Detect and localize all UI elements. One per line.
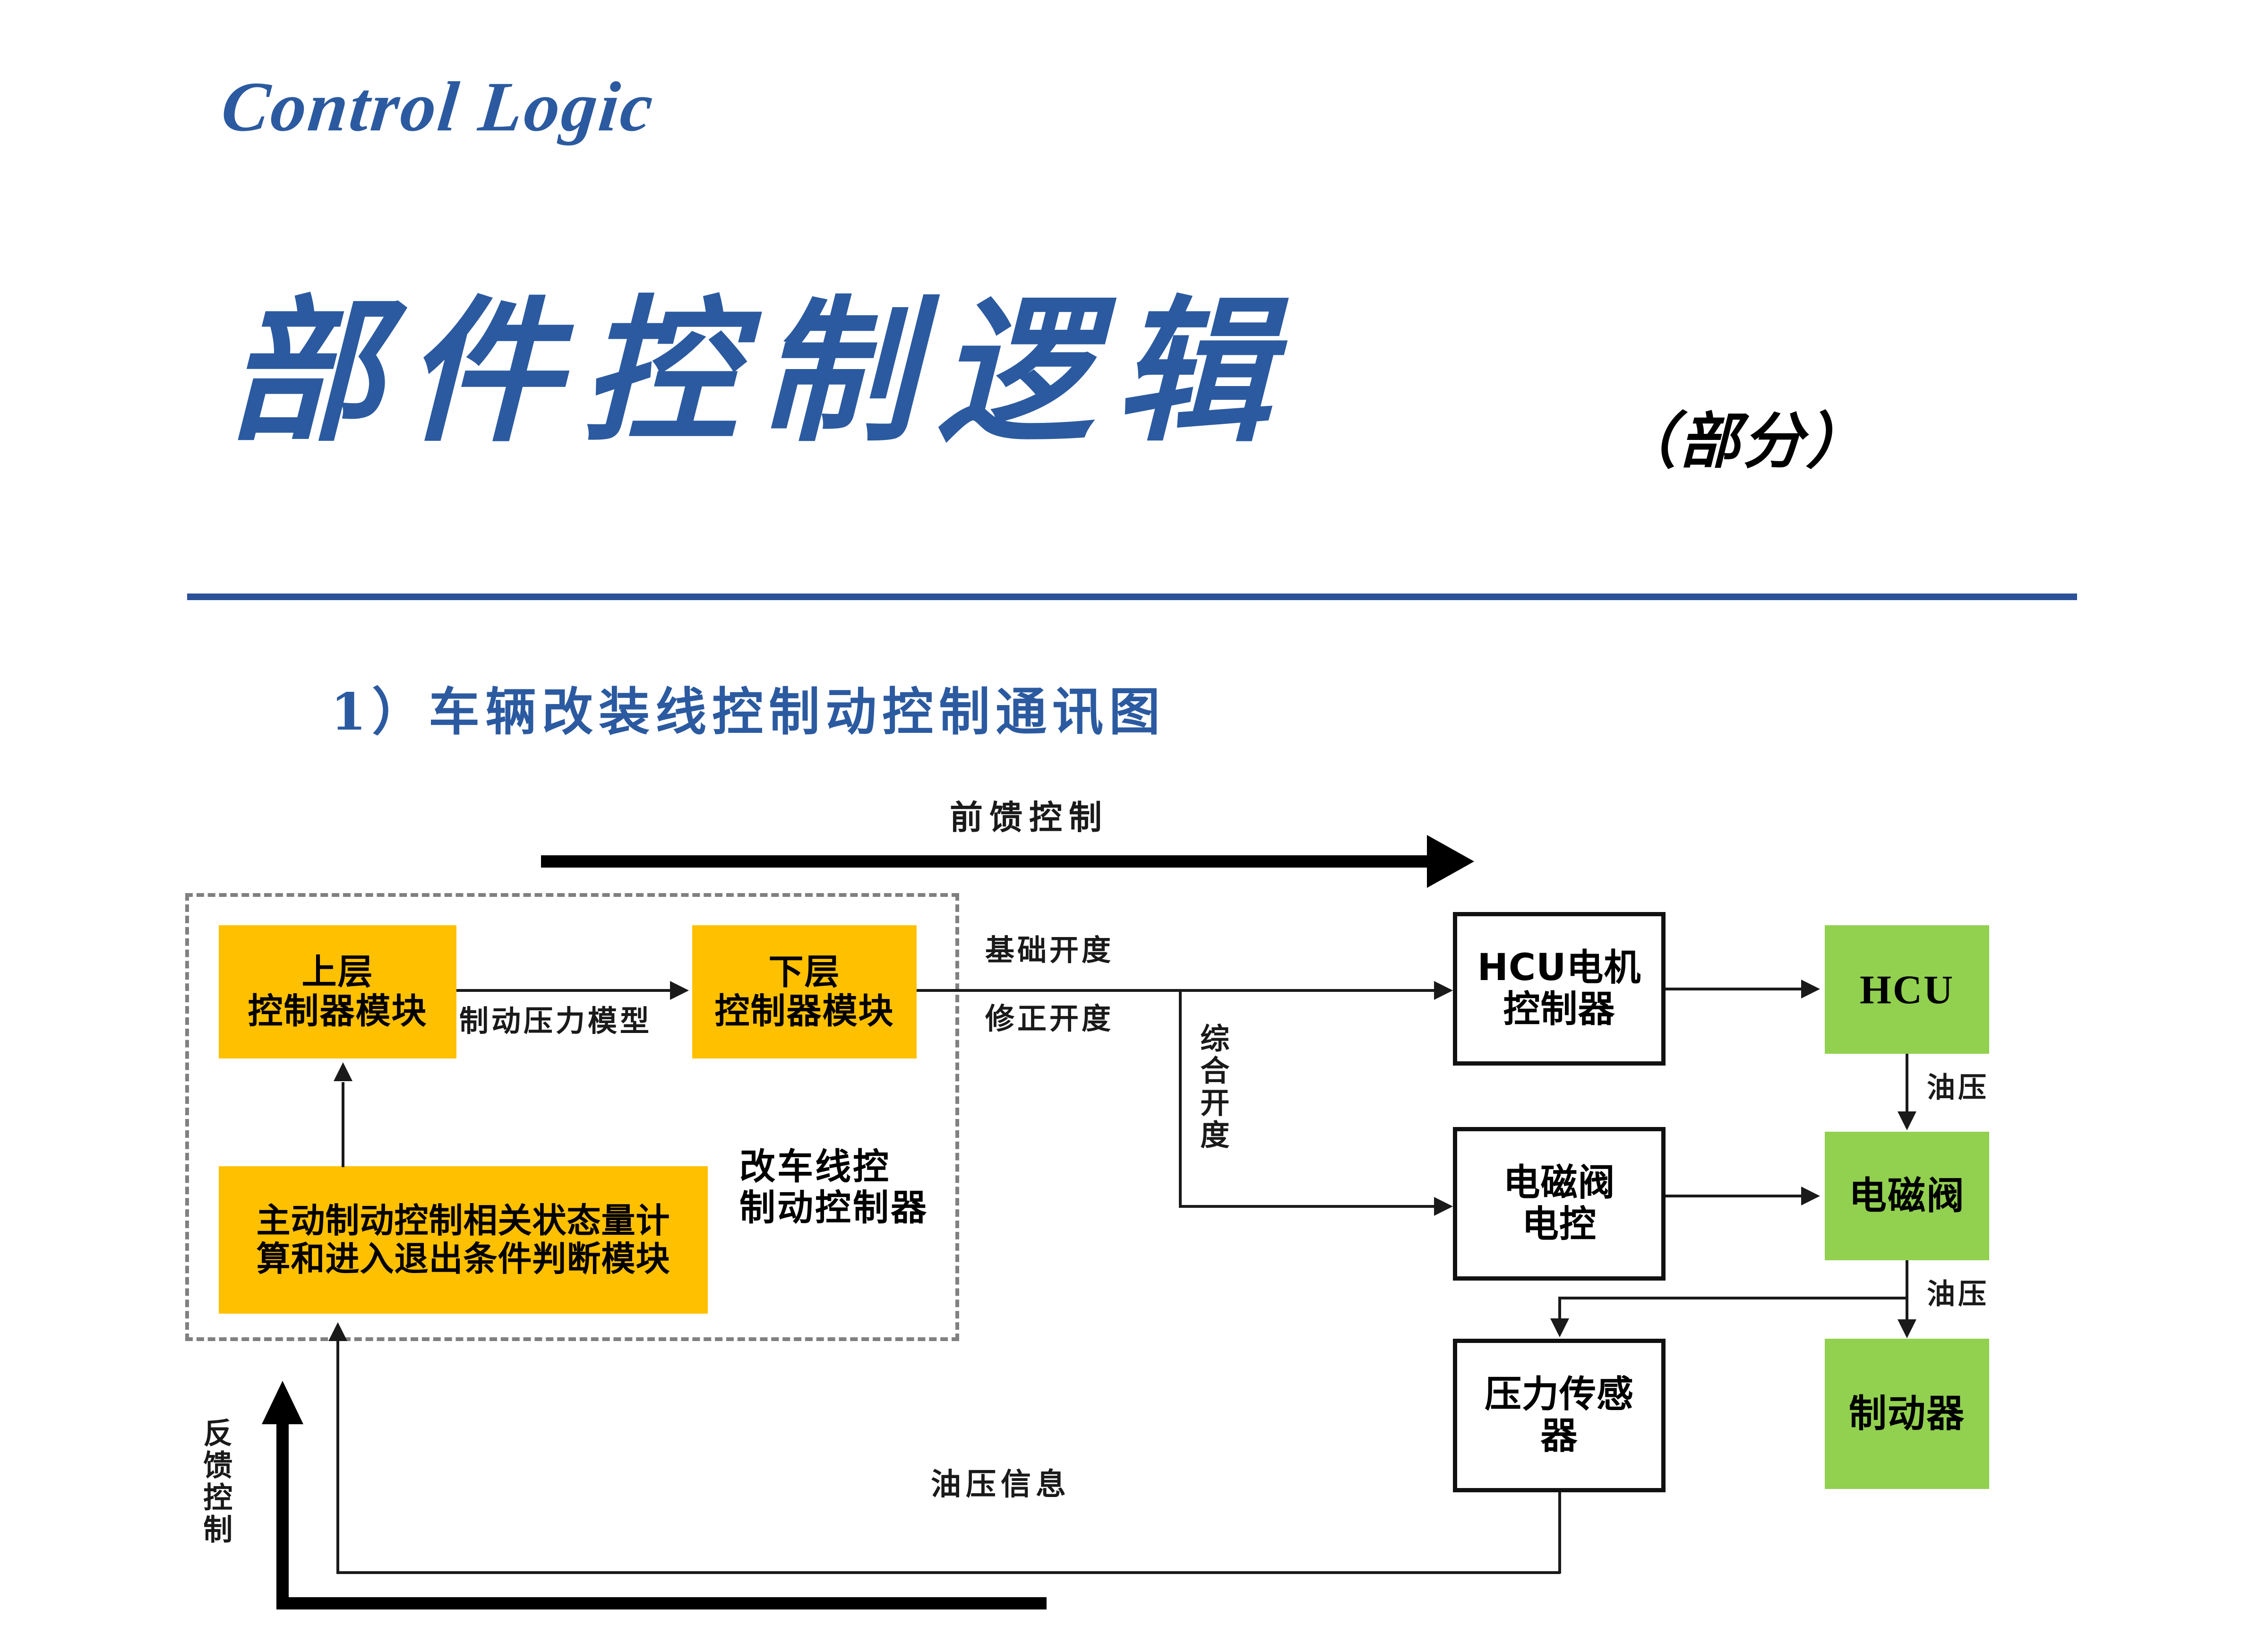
node-upper-controller[interactable]: 上层 控制器模块 — [219, 925, 456, 1058]
edge-label-hydraulic-1: 油压 — [1927, 1072, 1989, 1104]
node-hcu-motor-controller[interactable]: HCU电机 控制器 — [1453, 912, 1666, 1066]
edge-hcu-to-valve — [1906, 1054, 1908, 1113]
edge-label-combined-opening: 综合开度 — [1195, 1023, 1229, 1152]
edge-label-feedback: 反馈控制 — [198, 1418, 232, 1546]
feedforward-arrow-head — [1427, 835, 1474, 888]
edge-label-hydraulic-info: 油压信息 — [931, 1467, 1071, 1502]
page-title: 部件控制逻辑 — [227, 246, 1293, 472]
edge-sensor-down — [1558, 1492, 1561, 1574]
node-state-calc-module[interactable]: 主动制动控制相关状态量计 算和进入退出条件判断模块 — [219, 1166, 708, 1314]
edge-hcu-motor-to-hcu-arrowhead — [1801, 980, 1820, 998]
edge-feedback-up — [336, 1341, 339, 1573]
node-pressure-sensor[interactable]: 压力传感 器 — [1453, 1339, 1666, 1492]
node-solenoid-valve[interactable]: 电磁阀 — [1825, 1132, 1989, 1260]
page-title-suffix: （部分） — [1616, 392, 1869, 480]
node-brake[interactable]: 制动器 — [1825, 1339, 1989, 1489]
edge-hcu-to-valve-arrowhead — [1898, 1111, 1916, 1130]
edge-lower-to-hcu-motor-arrowhead — [1434, 981, 1453, 1000]
node-hcu[interactable]: HCU — [1825, 925, 1989, 1054]
feedforward-arrow-shaft — [541, 855, 1429, 868]
edge-state-to-upper-arrowhead — [334, 1062, 352, 1081]
edge-feedback-arrowhead — [328, 1322, 347, 1341]
edge-label-brake-pressure-model: 制动压力模型 — [459, 1004, 652, 1038]
node-solenoid-ecu[interactable]: 电磁阀 电控 — [1453, 1127, 1666, 1281]
edge-branch-to-solenoid — [1179, 989, 1182, 1206]
edge-label-feedforward: 前馈控制 — [950, 799, 1108, 837]
feedback-arrow-shaft-v — [276, 1422, 289, 1609]
edge-state-to-upper — [342, 1082, 344, 1167]
edge-solenoid-ecu-to-valve-arrowhead — [1801, 1187, 1820, 1205]
edge-valve-to-sensor-arrowhead — [1550, 1318, 1569, 1337]
feedback-arrow-head — [262, 1381, 303, 1424]
group-label: 改车线控 制动控制器 — [739, 1146, 928, 1229]
node-lower-controller[interactable]: 下层 控制器模块 — [692, 925, 917, 1058]
edge-valve-to-sensor-h — [1558, 1297, 1907, 1299]
edge-hcu-motor-to-hcu — [1666, 988, 1803, 990]
edge-label-base-opening: 基础开度 — [985, 933, 1114, 967]
header-divider — [187, 594, 2077, 600]
edge-label-corrected-opening: 修正开度 — [985, 1002, 1114, 1035]
edge-upper-to-lower-arrowhead — [670, 981, 689, 1000]
edge-feedback-rail — [336, 1571, 1560, 1574]
edge-valve-to-brake-arrowhead — [1898, 1319, 1916, 1338]
section-subtitle: 1）车辆改装线控制动控制通讯图 — [331, 671, 1166, 745]
edge-valve-to-brake — [1906, 1260, 1908, 1321]
edge-lower-to-hcu-motor — [917, 989, 1451, 992]
edge-solenoid-ecu-to-valve — [1666, 1195, 1803, 1197]
edge-valve-to-sensor-v — [1558, 1297, 1561, 1320]
edge-label-hydraulic-2: 油压 — [1927, 1278, 1989, 1311]
edge-branch-to-solenoid-h — [1179, 1205, 1451, 1208]
edge-upper-to-lower — [456, 989, 671, 992]
feedback-arrow-shaft-h — [276, 1597, 1047, 1609]
edge-branch-to-solenoid-arrowhead — [1434, 1197, 1453, 1216]
eyebrow-control-logic: Control Logic — [218, 66, 659, 147]
